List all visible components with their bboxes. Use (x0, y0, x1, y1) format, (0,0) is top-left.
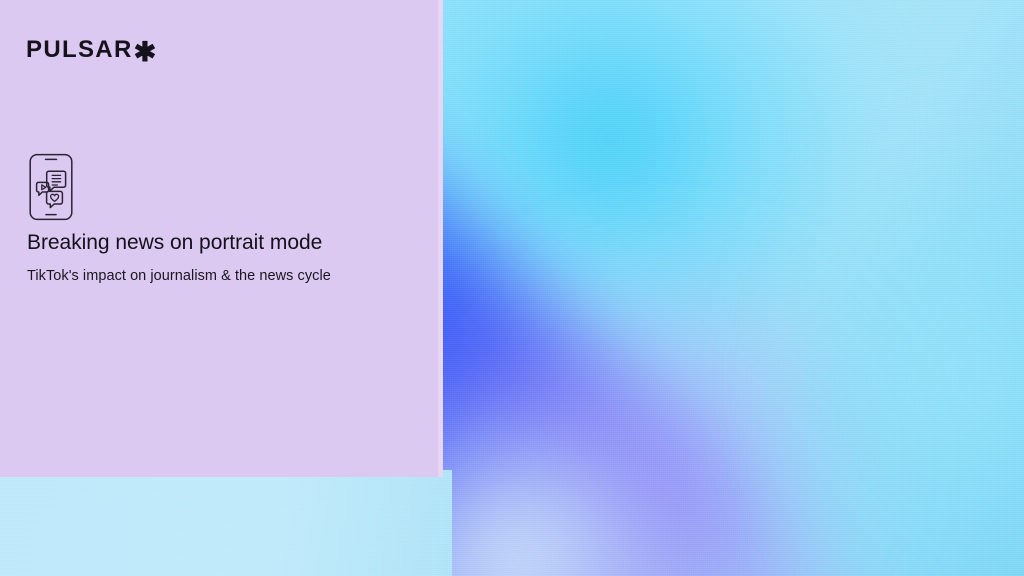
background-bottom-left-fill (0, 470, 452, 576)
page-title: Breaking news on portrait mode (27, 231, 322, 255)
phone-social-media-illustration-svg (27, 152, 75, 222)
speech-bubble-shape (47, 171, 66, 191)
brand-logo[interactable]: PULSAR ✱ (26, 36, 156, 63)
asterisk-icon: ✱ (134, 39, 157, 66)
background-glow-cyan-right (760, 120, 1024, 576)
heart-icon (51, 194, 59, 201)
presentation-slide: PULSAR ✱ Breaking news on portrait mod (0, 0, 1024, 576)
brand-logo-wordmark: PULSAR (26, 38, 133, 62)
heart-bubble-shape (47, 191, 63, 207)
content-card-edge (438, 0, 443, 477)
phone-social-media-icon (27, 152, 75, 222)
play-triangle-icon (42, 185, 46, 190)
page-subtitle: TikTok's impact on journalism & the news… (27, 268, 331, 284)
